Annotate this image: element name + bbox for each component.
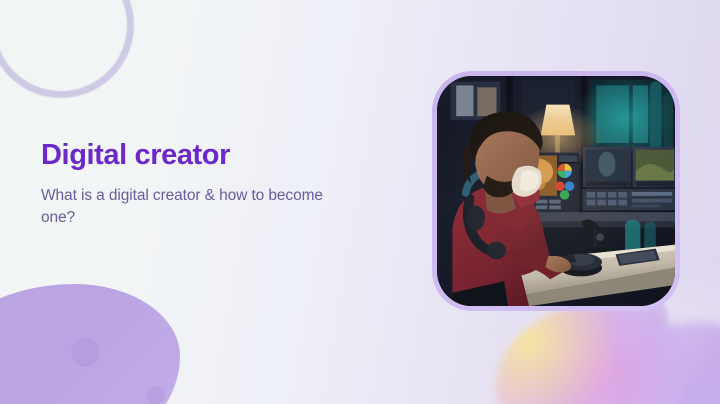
pastel-gradient-corner-decoration (611, 322, 720, 404)
pastel-gradient-blob-decoration (496, 300, 686, 404)
workstation-illustration (437, 76, 675, 306)
headline-block: Digital creator What is a digital creato… (41, 140, 391, 229)
small-circle-decoration (146, 386, 165, 404)
small-circle-decoration (71, 338, 100, 367)
ring-outline-decoration (0, 0, 134, 98)
purple-blob-decoration (0, 284, 180, 404)
slide-canvas: Digital creator What is a digital creato… (0, 0, 720, 404)
page-subtitle: What is a digital creator & how to becom… (41, 185, 361, 229)
page-title: Digital creator (41, 140, 391, 171)
hero-image (437, 76, 675, 306)
hero-image-card (432, 71, 680, 311)
